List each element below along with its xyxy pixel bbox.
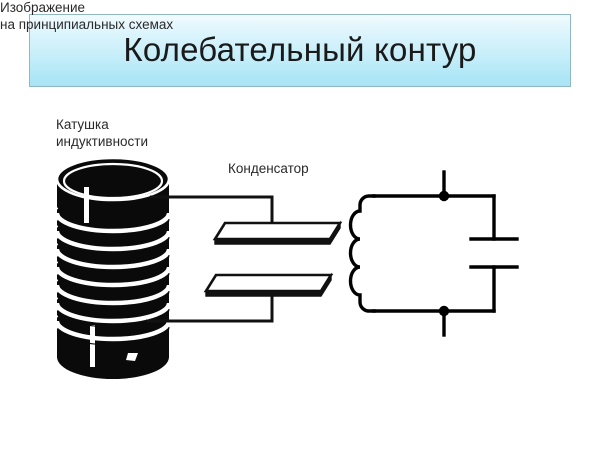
capacitor-plate-bottom [206, 275, 331, 296]
page-title: Колебательный контур [123, 33, 476, 66]
coil-top-opening [64, 164, 162, 198]
capacitor-plate-top [215, 223, 340, 244]
slide-canvas: Колебательный контур Катушка индуктивнос… [0, 0, 600, 450]
schematic-junction-top [439, 191, 449, 201]
lc-circuit-schematic [351, 172, 518, 335]
label-schematic-representation: Изображение на принципиальных схемах [0, 0, 173, 33]
schematic-junction-bottom [439, 306, 449, 316]
coil-inner-highlight-1 [84, 187, 89, 223]
figure-illustration [0, 95, 600, 395]
inductor-coil-drawing [54, 158, 169, 379]
coil-inner-highlight-2 [90, 325, 95, 367]
schematic-inductor-symbol [351, 196, 375, 311]
capacitor-plates-drawing [206, 223, 340, 296]
figure-svg [0, 95, 600, 395]
